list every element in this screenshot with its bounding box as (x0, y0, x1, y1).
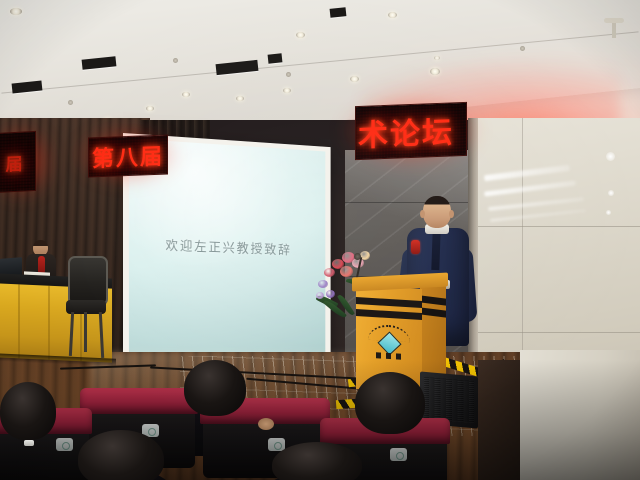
audience-member-head (0, 382, 56, 440)
seat-label-mark (274, 442, 282, 450)
audience-hand (258, 418, 274, 430)
audience-foreground (0, 0, 640, 480)
seat-label-mark (148, 428, 156, 436)
seat-number-label (56, 438, 73, 451)
audience-member-head (355, 372, 425, 434)
photo-scene: 欢迎左正兴教授致辞 第八届 术论坛 届 (0, 0, 640, 480)
audience-member-head (272, 442, 362, 480)
audience-member-head (184, 360, 246, 416)
audience-member-head (78, 430, 164, 480)
seat-label-mark (396, 452, 404, 460)
seat-label-mark (62, 442, 70, 450)
seat-number-label (390, 448, 407, 461)
audience-shirt-collar (24, 440, 34, 446)
seat-headrest-cushion (80, 388, 198, 414)
